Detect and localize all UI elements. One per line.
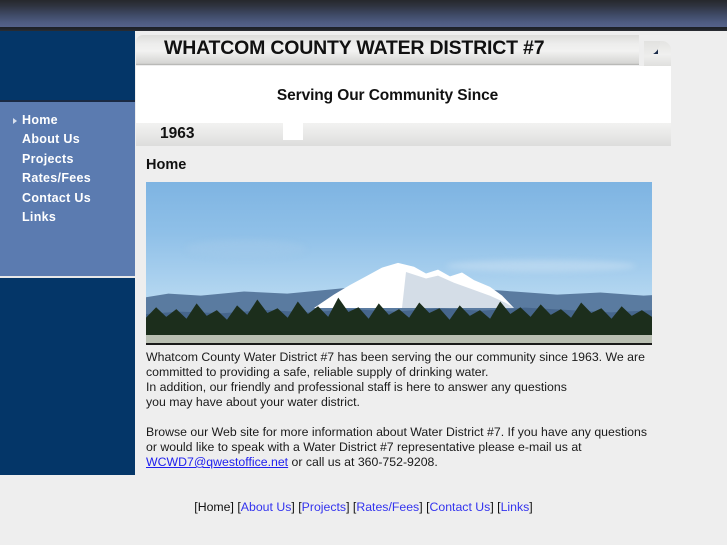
- hero-cloud-2: [446, 260, 636, 272]
- footer-link-rates-fees[interactable]: Rates/Fees: [356, 500, 419, 514]
- sidebar-item-label: Links: [22, 210, 56, 224]
- sidebar: HomeAbout UsProjectsRates/FeesContact Us…: [0, 31, 135, 475]
- footer-link-about-us[interactable]: About Us: [241, 500, 292, 514]
- sidebar-item-projects[interactable]: Projects: [0, 150, 135, 169]
- sidebar-item-links[interactable]: Links: [0, 208, 135, 227]
- footer-link-home: Home: [198, 500, 231, 514]
- sidebar-item-label: About Us: [22, 132, 80, 146]
- sidebar-nav: HomeAbout UsProjectsRates/FeesContact Us…: [0, 100, 135, 276]
- sidebar-item-home[interactable]: Home: [0, 111, 135, 130]
- hero-image: [146, 182, 652, 345]
- site-title: WHATCOM COUNTY WATER DISTRICT #7: [164, 37, 544, 60]
- paragraph-contact: Browse our Web site for more information…: [146, 425, 658, 470]
- site-tagline: Serving Our Community Since: [136, 87, 639, 105]
- sidebar-item-label: Contact Us: [22, 191, 91, 205]
- footer-bracket-close: ]: [346, 500, 353, 514]
- current-page-arrow-icon: [13, 118, 17, 124]
- tagline-year-notch: [283, 123, 303, 140]
- footer-link-contact-us[interactable]: Contact Us: [429, 500, 490, 514]
- paragraph-intro-line1: Whatcom County Water District #7 has bee…: [146, 350, 645, 379]
- body-text: Whatcom County Water District #7 has bee…: [146, 350, 658, 485]
- hero-foreground-field: [146, 335, 652, 343]
- footer-nav: [Home] [About Us] [Projects] [Rates/Fees…: [0, 500, 727, 514]
- sidebar-top-spacer: [0, 31, 135, 100]
- paragraph-intro-line3: you may have about your water district.: [146, 395, 360, 409]
- sidebar-item-rates-fees[interactable]: Rates/Fees: [0, 169, 135, 188]
- tagline-year-strip: [136, 123, 671, 146]
- paragraph-intro: Whatcom County Water District #7 has bee…: [146, 350, 658, 410]
- site-titlebar: WHATCOM COUNTY WATER DISTRICT #7: [136, 35, 639, 65]
- sidebar-item-about-us[interactable]: About Us: [0, 130, 135, 149]
- page-body: Home Whatcom County Water District #7 ha…: [136, 146, 667, 483]
- top-banner: [0, 0, 727, 27]
- footer-link-projects[interactable]: Projects: [302, 500, 346, 514]
- tagline-year: 1963: [160, 125, 194, 143]
- email-link[interactable]: WCWD7@qwestoffice.net: [146, 455, 288, 469]
- paragraph-intro-line2: In addition, our friendly and profession…: [146, 380, 567, 394]
- hero-cloud: [186, 240, 306, 258]
- footer-link-links[interactable]: Links: [501, 500, 530, 514]
- page-title: Home: [146, 157, 186, 173]
- tagline-band: Serving Our Community Since: [136, 66, 671, 123]
- sidebar-bottom-fill: [0, 276, 135, 475]
- content-panel: WHATCOM COUNTY WATER DISTRICT #7 Serving…: [136, 31, 667, 483]
- sidebar-item-label: Projects: [22, 152, 74, 166]
- sidebar-item-label: Rates/Fees: [22, 171, 91, 185]
- footer-bracket-close: ]: [529, 500, 532, 514]
- sidebar-nav-list: HomeAbout UsProjectsRates/FeesContact Us…: [0, 102, 135, 227]
- paragraph-contact-before: Browse our Web site for more information…: [146, 425, 647, 454]
- sidebar-item-label: Home: [22, 113, 58, 127]
- sidebar-item-contact-us[interactable]: Contact Us: [0, 189, 135, 208]
- paragraph-contact-after: or call us at 360-752-9208.: [288, 455, 438, 469]
